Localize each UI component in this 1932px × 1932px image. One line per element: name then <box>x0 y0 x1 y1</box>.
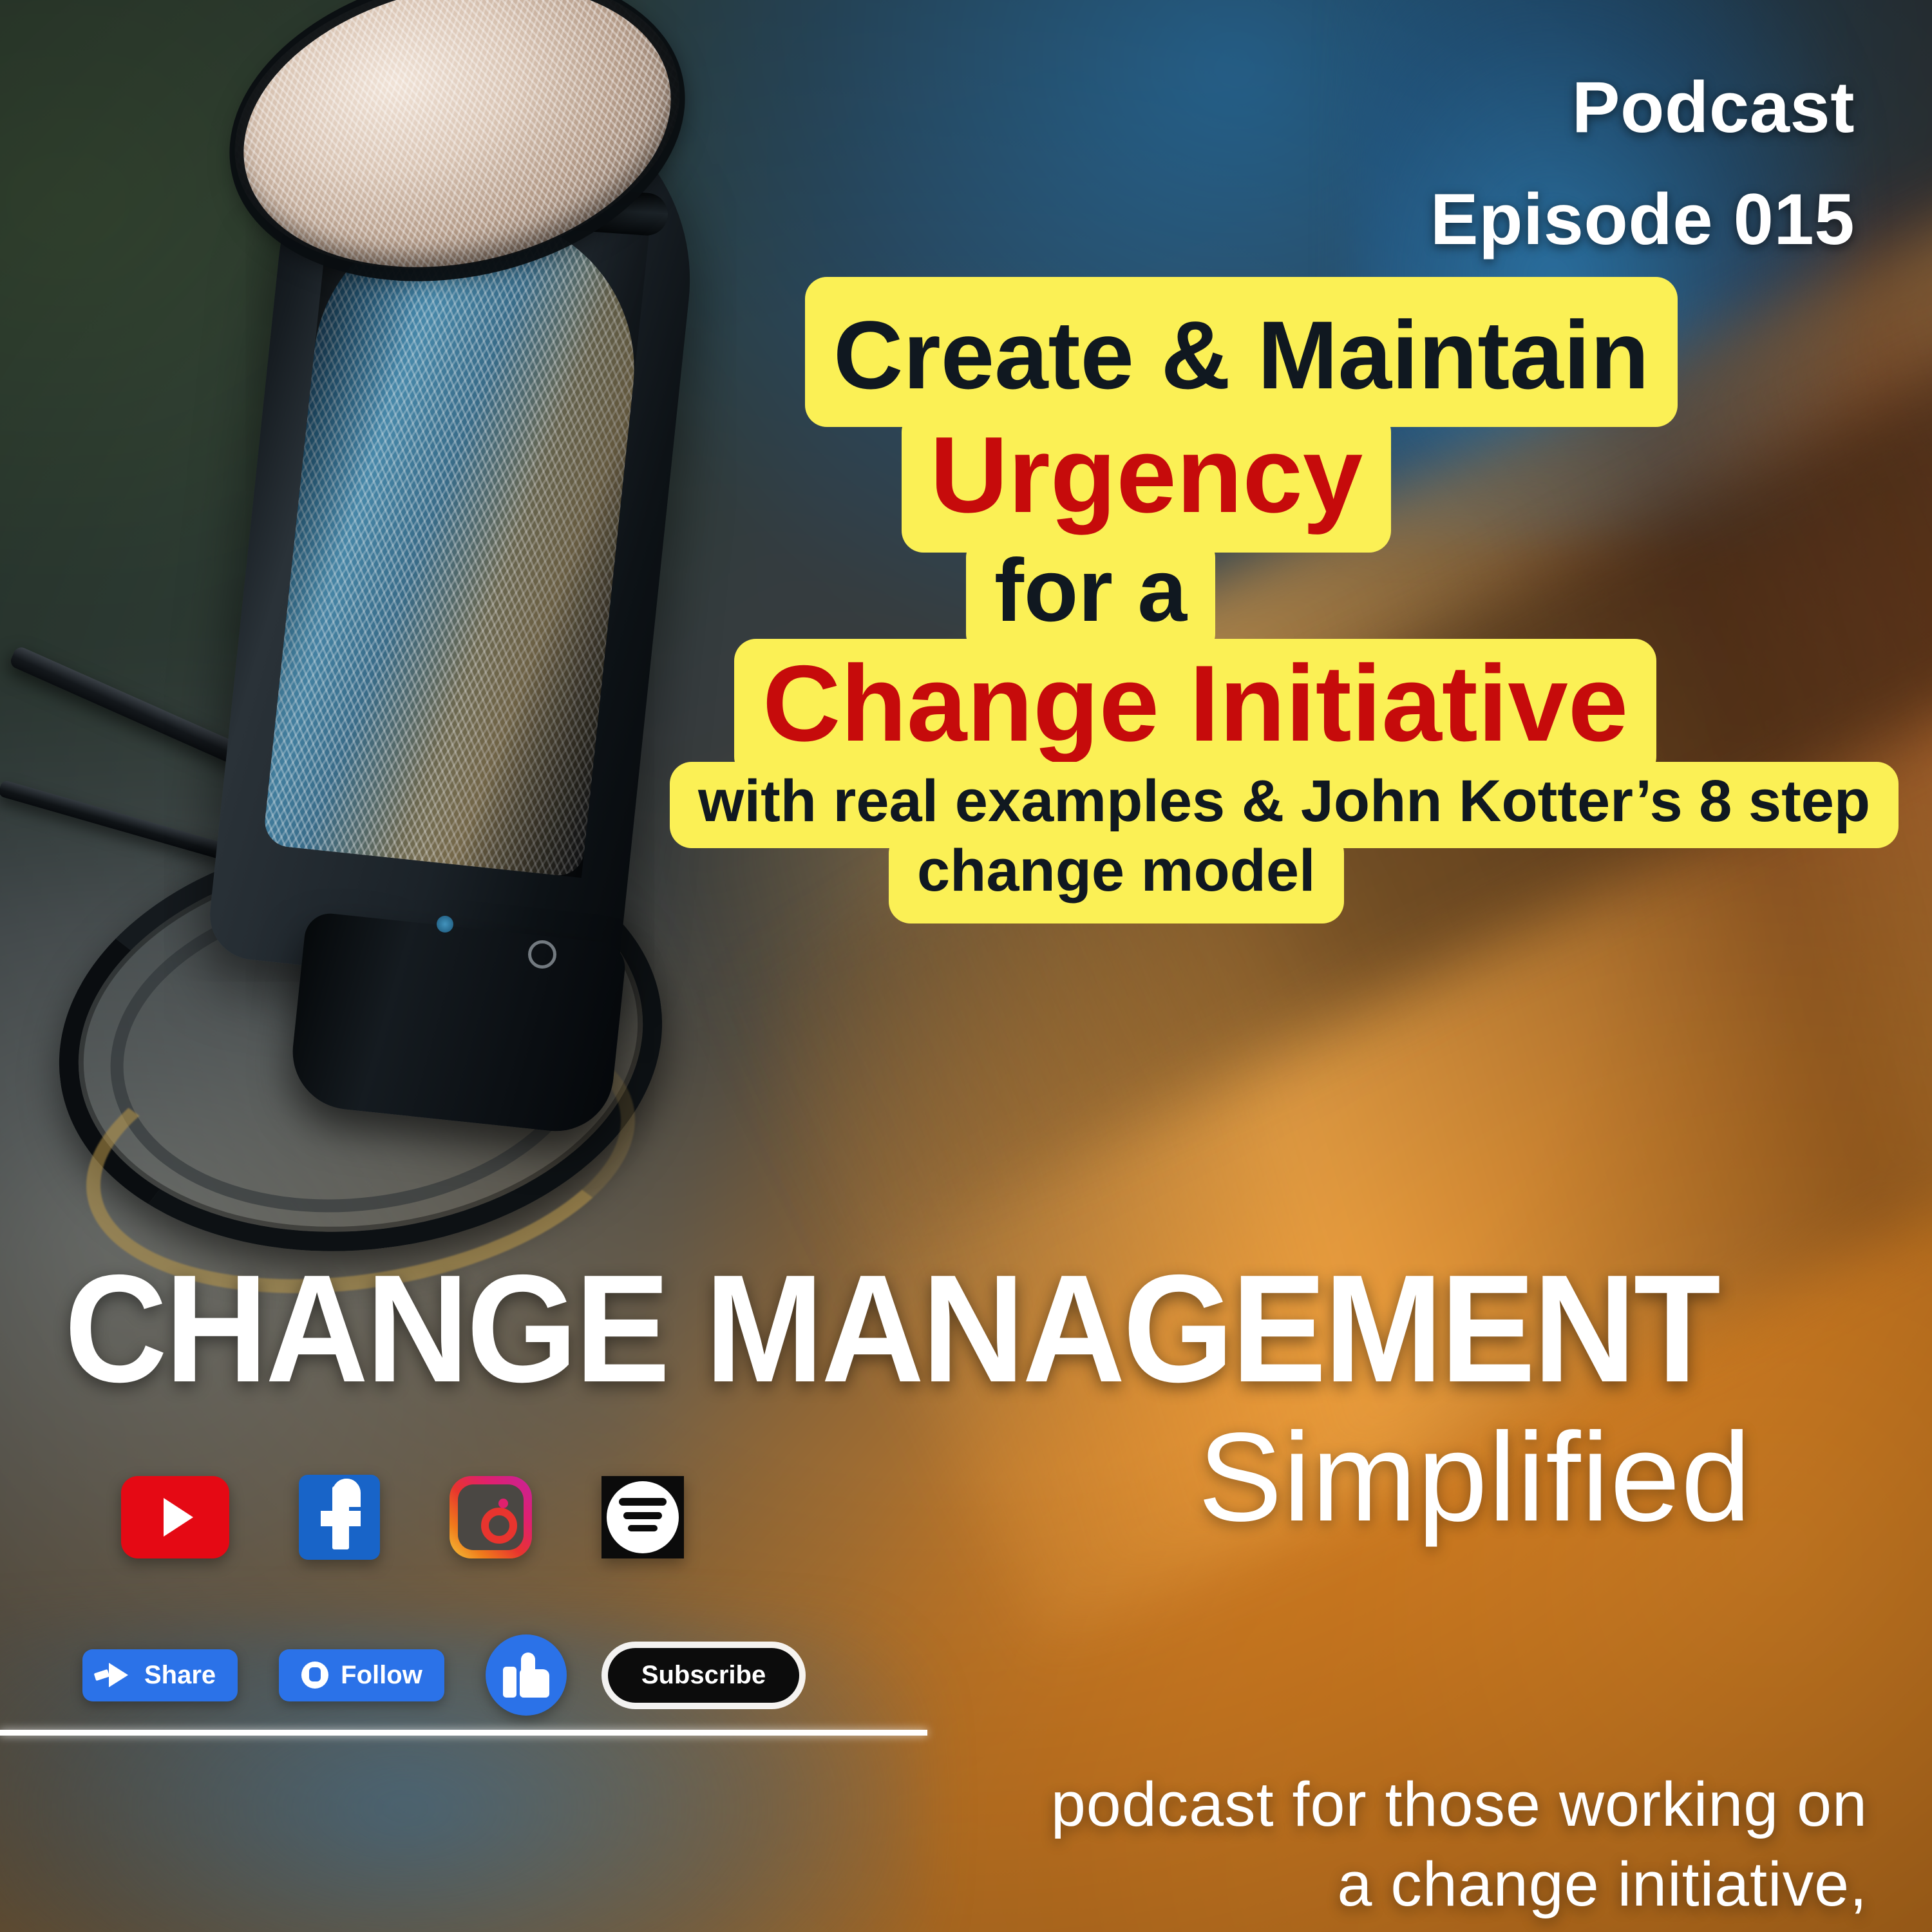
play-triangle-icon <box>164 1498 193 1537</box>
follow-button[interactable]: Follow <box>279 1649 444 1701</box>
facebook-f-bar <box>321 1511 361 1526</box>
title-line-change-initiative: Change Initiative <box>734 639 1656 779</box>
facebook-icon[interactable] <box>299 1475 380 1560</box>
facebook-f-arc <box>332 1479 361 1507</box>
spotify-circle <box>607 1481 679 1553</box>
spotify-wave-bar-1 <box>619 1498 667 1506</box>
mic-base <box>287 911 628 1137</box>
spotify-wave-bar-3 <box>628 1525 658 1531</box>
instagram-lens-icon <box>481 1508 517 1544</box>
title-line-urgency: Urgency <box>902 410 1391 553</box>
brand-name: CHANGE MANAGEMENT <box>64 1256 1741 1403</box>
follow-button-label: Follow <box>341 1661 422 1690</box>
horizontal-divider <box>0 1730 927 1736</box>
subscribe-button[interactable]: Subscribe <box>608 1648 799 1703</box>
share-arrow-icon <box>104 1661 133 1689</box>
like-button[interactable] <box>486 1634 567 1716</box>
share-button-label: Share <box>144 1661 216 1690</box>
instagram-icon[interactable] <box>450 1476 532 1558</box>
title-subline-change-model: change model <box>889 831 1344 923</box>
youtube-icon[interactable] <box>121 1476 229 1558</box>
instagram-inner <box>458 1484 524 1550</box>
spotify-wave-bar-2 <box>623 1512 662 1519</box>
title-line-create-maintain: Create & Maintain <box>805 277 1678 427</box>
instagram-dot-icon <box>498 1499 508 1508</box>
tagline-line-2: a change initiative, <box>580 1844 1868 1924</box>
tagline-line-1: podcast for those working on <box>580 1765 1868 1844</box>
tagline-block: podcast for those working on a change in… <box>580 1765 1868 1932</box>
spotify-icon[interactable] <box>601 1476 684 1558</box>
share-button[interactable]: Share <box>82 1649 238 1701</box>
action-buttons-row: Share Follow Subscribe <box>82 1634 799 1716</box>
mic-grille-shading <box>263 198 650 878</box>
mic-indicator-led <box>437 916 453 933</box>
tagline-line-3: transformation or project <box>580 1924 1868 1932</box>
mic-control-knob <box>528 940 556 969</box>
podcast-cover: Podcast Episode 015 Create & Maintain Ur… <box>0 0 1932 1932</box>
title-line-for-a: for a <box>966 536 1215 656</box>
follow-circle-icon <box>301 1661 329 1689</box>
episode-header: Podcast Episode 015 <box>1430 52 1855 275</box>
thumbs-up-icon <box>503 1653 549 1698</box>
episode-number: Episode 015 <box>1430 164 1855 276</box>
episode-title-block: Create & Maintain Urgency for a Change I… <box>631 277 1893 923</box>
social-icons-row <box>121 1475 684 1560</box>
podcast-label: Podcast <box>1430 52 1855 164</box>
mic-mesh-grille <box>263 198 650 878</box>
